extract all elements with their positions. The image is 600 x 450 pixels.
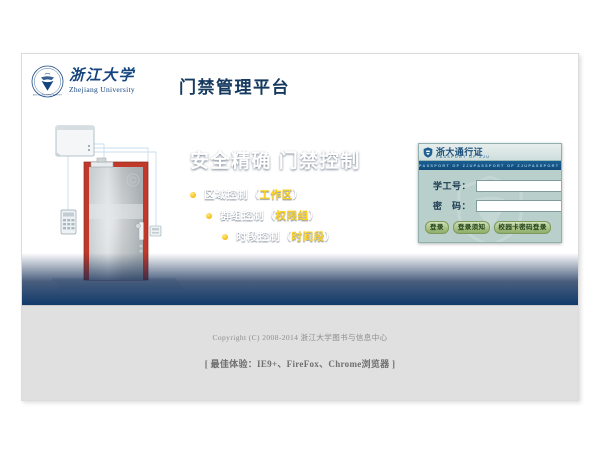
feature-label-tail: ） (309, 208, 320, 223)
door-access-control-illustration (44, 118, 209, 298)
feature-label-main: 群组控制（ (220, 208, 276, 223)
password-label: 密 码： (427, 199, 471, 212)
keypad-reader (61, 210, 76, 234)
brand-logo[interactable]: ZHEJIANG UNIVERSITY 浙江大学 Zhejiang Univer… (31, 65, 135, 98)
campus-card-login-button[interactable]: 校园卡密码登录 (494, 221, 550, 234)
feature-item-area: 区域控制（工作区） (190, 187, 405, 202)
feature-item-timeslot: 时段控制（时间段） (190, 229, 405, 244)
feature-item-group: 群组控制（权限组） (190, 208, 405, 223)
feature-label-accent: 权限组 (276, 208, 309, 223)
banner-headline: 安全精确 门禁控制 (190, 146, 405, 173)
login-form: 学工号： 密 码： (419, 170, 561, 212)
hero-banner: 安全精确 门禁控制 区域控制（工作区） 群组控制（权限组） 时段控制（时间段） (22, 110, 578, 305)
login-button[interactable]: 登录 (425, 221, 449, 234)
login-button-group: 登录 登录须知 校园卡密码登录 (419, 219, 561, 234)
page-frame: ZHEJIANG UNIVERSITY 浙江大学 Zhejiang Univer… (21, 53, 579, 401)
controller-box (56, 126, 94, 156)
feature-list: 区域控制（工作区） 群组控制（权限组） 时段控制（时间段） (190, 187, 405, 244)
university-name-en: Zhejiang University (69, 86, 135, 95)
platform-title: 门禁管理平台 (179, 73, 290, 98)
password-input[interactable] (476, 200, 562, 212)
zju-seal-icon: ZHEJIANG UNIVERSITY (31, 65, 64, 98)
footer-browser-note: [ 最佳体验：IE9+、FireFox、Chrome浏览器 ] (22, 357, 578, 370)
login-titlebar: 浙大通行证 PASSPORT OF ZJU (419, 144, 561, 161)
feature-label-main: 区域控制（ (204, 187, 260, 202)
site-header: ZHEJIANG UNIVERSITY 浙江大学 Zhejiang Univer… (22, 54, 578, 110)
userid-label: 学工号： (427, 179, 471, 192)
footer-copyright: Copyright (C) 2008-2014 浙江大学图书与信息中心 (22, 332, 578, 343)
login-panel: 浙大通行证 PASSPORT OF ZJU PASSPORT OF ZJU PA… (418, 143, 562, 243)
field-row-userid: 学工号： (427, 179, 553, 192)
svg-text:ZHEJIANG UNIVERSITY: ZHEJIANG UNIVERSITY (33, 93, 62, 96)
feature-label-tail: ） (293, 187, 304, 202)
login-notice-button[interactable]: 登录须知 (453, 221, 491, 234)
userid-input[interactable] (476, 180, 562, 192)
feature-label-accent: 工作区 (260, 187, 293, 202)
login-title-en: PASSPORT OF ZJU (436, 155, 490, 159)
feature-label-accent: 时间段 (292, 229, 325, 244)
ribbon-text: PASSPORT OF ZJU (474, 164, 529, 168)
shield-icon (423, 147, 433, 158)
university-name-cn: 浙江大学 (69, 69, 135, 85)
banner-copy: 安全精确 门禁控制 区域控制（工作区） 群组控制（权限组） 时段控制（时间段） (190, 146, 405, 250)
ribbon-text: PASSPORT OF ZJU (528, 164, 561, 168)
login-ribbon: PASSPORT OF ZJU PASSPORT OF ZJU PASSPORT… (419, 161, 561, 170)
field-row-password: 密 码： (427, 199, 553, 212)
site-footer: Copyright (C) 2008-2014 浙江大学图书与信息中心 [ 最佳… (22, 305, 578, 401)
bullet-dot-icon (190, 192, 196, 198)
feature-label-main: 时段控制（ (236, 229, 292, 244)
bullet-dot-icon (222, 234, 228, 240)
bullet-dot-icon (206, 213, 212, 219)
feature-label-tail: ） (325, 229, 336, 244)
ribbon-text: PASSPORT OF ZJU (419, 164, 474, 168)
